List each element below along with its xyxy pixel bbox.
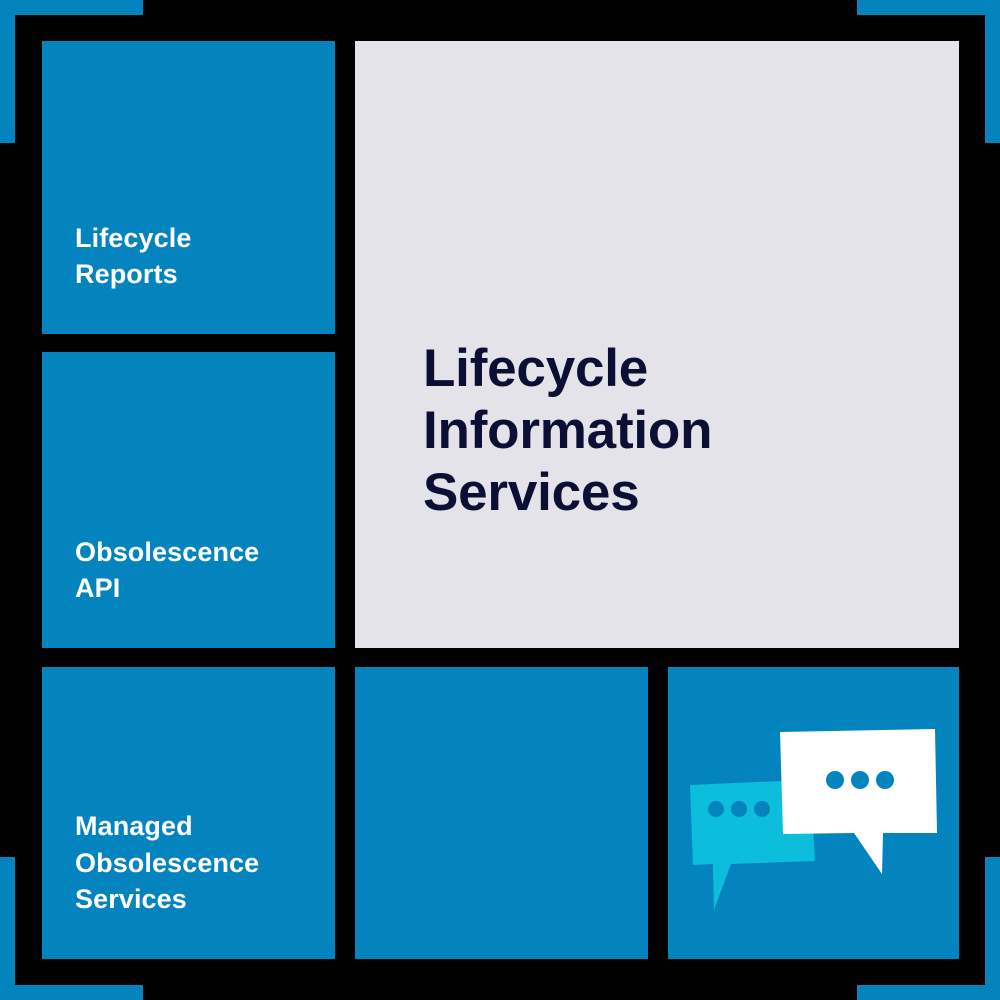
bracket-bar-top-left-horizontal <box>0 0 143 15</box>
tile-managed-obsolescence-services[interactable]: Managed Obsolescence Services <box>42 667 335 959</box>
speech-bubble-front-dots <box>826 771 894 789</box>
tile-managed-obsolescence-services-label: Managed Obsolescence Services <box>75 808 321 917</box>
bracket-bar-bottom-right-vertical <box>985 857 1000 1000</box>
lifecycle-information-services-panel[interactable]: Lifecycle Information Services <box>355 41 959 648</box>
tile-lifecycle-reports[interactable]: Lifecycle Reports <box>42 41 335 334</box>
tile-blank-middle[interactable] <box>355 667 648 959</box>
tile-obsolescence-api[interactable]: Obsolescence API <box>42 352 335 648</box>
bracket-bar-top-right-vertical <box>985 0 1000 143</box>
bracket-bar-bottom-left-vertical <box>0 857 15 1000</box>
lifecycle-services-graphic: Lifecycle Reports Obsolescence API Manag… <box>0 0 1000 1000</box>
tile-lifecycle-reports-label: Lifecycle Reports <box>75 220 321 292</box>
bracket-bar-top-right-horizontal <box>857 0 1000 15</box>
chat-bubbles-icon <box>668 667 959 959</box>
tile-obsolescence-api-label: Obsolescence API <box>75 534 321 606</box>
bracket-bar-top-left-vertical <box>0 0 15 143</box>
bracket-bar-bottom-right-horizontal <box>857 985 1000 1000</box>
bracket-bar-bottom-left-horizontal <box>0 985 143 1000</box>
tile-chat-bubbles[interactable] <box>668 667 959 959</box>
page-title: Lifecycle Information Services <box>423 338 939 524</box>
speech-bubble-back-dots <box>708 801 770 817</box>
